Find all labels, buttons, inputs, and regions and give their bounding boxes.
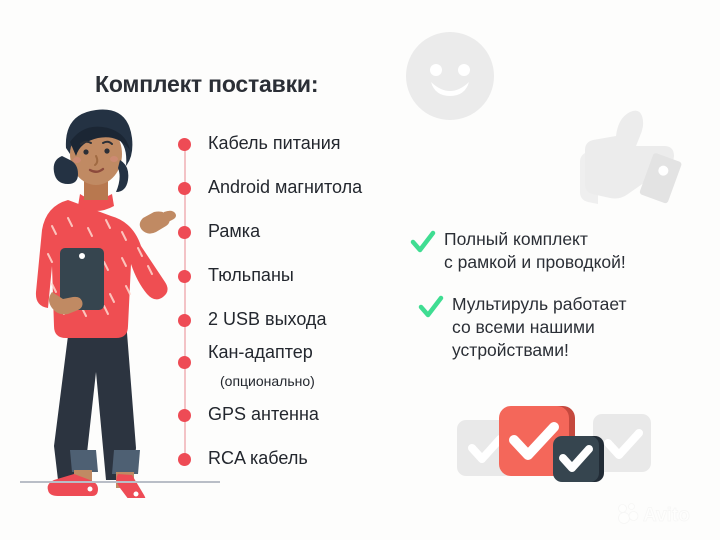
avito-wordmark: Avito: [643, 505, 690, 526]
check-icon: [418, 294, 444, 320]
thumbs-up-icon: [570, 110, 696, 214]
benefit-text: Мультируль работает со всеми нашими устр…: [452, 293, 627, 362]
list-item-label: Кабель питания: [208, 131, 341, 156]
woman-pointing-illustration: [8, 108, 198, 498]
list-item-label: GPS антенна: [208, 402, 319, 427]
list-item-label: Кан-адаптер: [208, 340, 313, 365]
bullet-dot: [178, 138, 191, 151]
bullet-dot: [178, 409, 191, 422]
page-title: Комплект поставки:: [95, 71, 318, 98]
avito-watermark: Avito: [615, 500, 707, 526]
list-item-label: Рамка: [208, 219, 260, 244]
benefit-text: Полный комплект с рамкой и проводкой!: [444, 228, 626, 274]
list-item-sublabel: (опционально): [220, 371, 315, 391]
checkbox-group-icon: [455, 398, 651, 492]
list-item-label: Тюльпаны: [208, 263, 294, 288]
bullet-dot: [178, 270, 191, 283]
ground-line: [20, 481, 220, 483]
bullet-dot: [178, 453, 191, 466]
bullet-dot: [178, 314, 191, 327]
smiley-face-icon: [404, 30, 496, 122]
list-item-label: 2 USB выхода: [208, 307, 326, 332]
bullet-dot: [178, 356, 191, 369]
bullet-dot: [178, 226, 191, 239]
benefit-item: Полный комплект с рамкой и проводкой!: [410, 228, 626, 274]
check-icon: [410, 229, 436, 255]
bullet-dot: [178, 182, 191, 195]
list-item-label: Android магнитола: [208, 175, 362, 200]
promo-card: Комплект поставки: Кабель питания Androi…: [0, 0, 720, 540]
list-item-label: RCA кабель: [208, 446, 308, 471]
benefit-item: Мультируль работает со всеми нашими устр…: [418, 293, 627, 362]
